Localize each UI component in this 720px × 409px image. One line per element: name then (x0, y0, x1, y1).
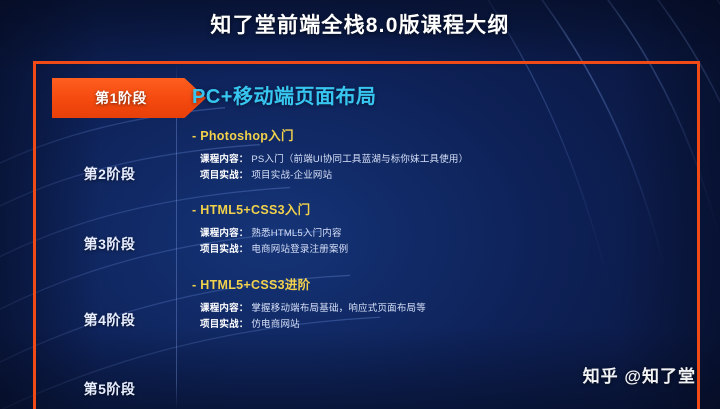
topic-3-project: 项目实战： 仿电商网站 (200, 318, 690, 333)
stage-list: 第1阶段 第2阶段 第3阶段 第4阶段 第5阶段 (36, 64, 183, 409)
topic-2-project: 项目实战： 电商网站登录注册案例 (200, 243, 690, 258)
topic-block-1: - Photoshop入门 课程内容： PS入门（前端UI协同工具蓝湖与标你妹工… (190, 125, 690, 183)
stage-item-3[interactable]: 第3阶段 (36, 224, 183, 264)
module-content-panel: PC+移动端页面布局 - Photoshop入门 课程内容： PS入门（前端UI… (190, 80, 690, 344)
stage-item-2[interactable]: 第2阶段 (36, 154, 183, 194)
topic-3-project-label: 项目实战： (200, 319, 249, 330)
module-title: PC+移动端页面布局 (192, 80, 690, 109)
topic-1-project-label: 项目实战： (200, 170, 249, 181)
topic-3-course-content: 课程内容： 掌握移动端布局基础，响应式页面布局等 (200, 302, 690, 317)
topic-3-content-value: 掌握移动端布局基础，响应式页面布局等 (251, 303, 426, 314)
topic-3-content-label: 课程内容： (200, 303, 249, 314)
topic-name-2: - HTML5+CSS3入门 (192, 199, 690, 218)
topic-1-content-value: PS入门（前端UI协同工具蓝湖与标你妹工具使用） (251, 154, 468, 165)
topic-1-course-content: 课程内容： PS入门（前端UI协同工具蓝湖与标你妹工具使用） (200, 153, 690, 168)
stage-item-1[interactable]: 第1阶段 (52, 78, 206, 118)
topic-block-2: - HTML5+CSS3入门 课程内容： 熟悉HTML5入门内容 项目实战： 电… (190, 199, 690, 257)
topic-name-1: - Photoshop入门 (192, 125, 690, 144)
topic-3-project-value: 仿电商网站 (251, 319, 300, 330)
topic-1-project: 项目实战： 项目实战-企业网站 (200, 169, 690, 184)
topic-name-3: - HTML5+CSS3进阶 (192, 274, 690, 293)
topic-2-course-content: 课程内容： 熟悉HTML5入门内容 (200, 227, 690, 242)
topic-2-content-value: 熟悉HTML5入门内容 (251, 228, 341, 239)
topic-1-project-value: 项目实战-企业网站 (251, 170, 332, 181)
course-outline-slide: 知了堂前端全栈8.0版课程大纲 第1阶段 第2阶段 第3阶段 第4阶段 第5阶段… (0, 0, 720, 409)
stage-item-4[interactable]: 第4阶段 (36, 300, 183, 340)
topic-2-project-value: 电商网站登录注册案例 (251, 244, 348, 255)
topic-1-content-label: 课程内容： (200, 154, 249, 165)
page-title: 知了堂前端全栈8.0版课程大纲 (0, 9, 720, 39)
watermark: 知乎 @知了堂 (583, 362, 696, 387)
topic-2-content-label: 课程内容： (200, 228, 249, 239)
topic-block-3: - HTML5+CSS3进阶 课程内容： 掌握移动端布局基础，响应式页面布局等 … (190, 274, 690, 332)
topic-2-project-label: 项目实战： (200, 244, 249, 255)
stage-item-5[interactable]: 第5阶段 (36, 369, 183, 409)
